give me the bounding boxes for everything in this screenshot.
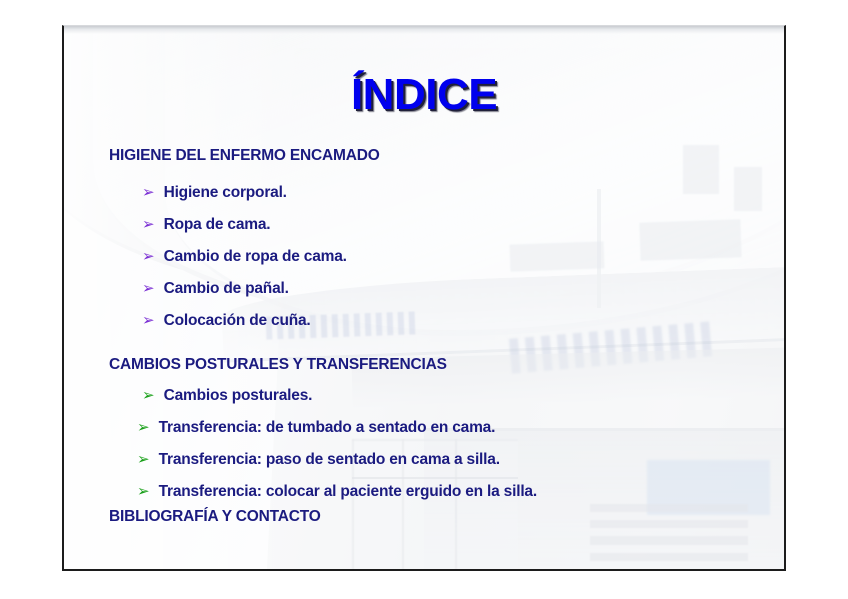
presentation-slide: ÍNDICE HIGIENE DEL ENFERMO ENCAMADO ➢ Hi…: [62, 25, 786, 571]
list-item: ➢ Ropa de cama.: [142, 216, 270, 234]
slide-content: ÍNDICE HIGIENE DEL ENFERMO ENCAMADO ➢ Hi…: [64, 26, 784, 569]
list-item-label: Ropa de cama.: [164, 216, 271, 234]
list-item: ➢ Transferencia: paso de sentado en cama…: [137, 451, 500, 469]
list-item: ➢ Colocación de cuña.: [142, 312, 311, 330]
list-item-label: Transferencia: paso de sentado en cama a…: [159, 451, 500, 469]
section-heading-cambios: CAMBIOS POSTURALES Y TRANSFERENCIAS: [109, 356, 447, 374]
section-heading-higiene: HIGIENE DEL ENFERMO ENCAMADO: [109, 147, 380, 165]
list-item: ➢ Transferencia: de tumbado a sentado en…: [137, 419, 495, 437]
list-item-label: Transferencia: de tumbado a sentado en c…: [159, 419, 496, 437]
arrow-bullet-icon: ➢: [137, 484, 150, 499]
list-item: ➢ Cambio de pañal.: [142, 280, 289, 298]
arrow-bullet-icon: ➢: [137, 452, 150, 467]
slide-title: ÍNDICE: [64, 70, 784, 120]
arrow-bullet-icon: ➢: [142, 249, 155, 264]
list-item-label: Cambio de pañal.: [164, 280, 289, 298]
arrow-bullet-icon: ➢: [142, 185, 155, 200]
section-heading-bibliografia: BIBLIOGRAFÍA Y CONTACTO: [109, 508, 321, 526]
list-item-label: Cambios posturales.: [164, 387, 313, 405]
list-item-label: Higiene corporal.: [164, 184, 287, 202]
arrow-bullet-icon: ➢: [137, 420, 150, 435]
list-item: ➢ Cambios posturales.: [142, 387, 312, 405]
arrow-bullet-icon: ➢: [142, 313, 155, 328]
list-item-label: Transferencia: colocar al paciente ergui…: [159, 483, 537, 501]
list-item: ➢ Cambio de ropa de cama.: [142, 248, 347, 266]
list-item: ➢ Higiene corporal.: [142, 184, 287, 202]
screenshot-root: ÍNDICE HIGIENE DEL ENFERMO ENCAMADO ➢ Hi…: [0, 0, 848, 599]
list-item-label: Colocación de cuña.: [164, 312, 311, 330]
arrow-bullet-icon: ➢: [142, 217, 155, 232]
list-item-label: Cambio de ropa de cama.: [164, 248, 347, 266]
arrow-bullet-icon: ➢: [142, 281, 155, 296]
arrow-bullet-icon: ➢: [142, 388, 155, 403]
list-item: ➢ Transferencia: colocar al paciente erg…: [137, 483, 537, 501]
